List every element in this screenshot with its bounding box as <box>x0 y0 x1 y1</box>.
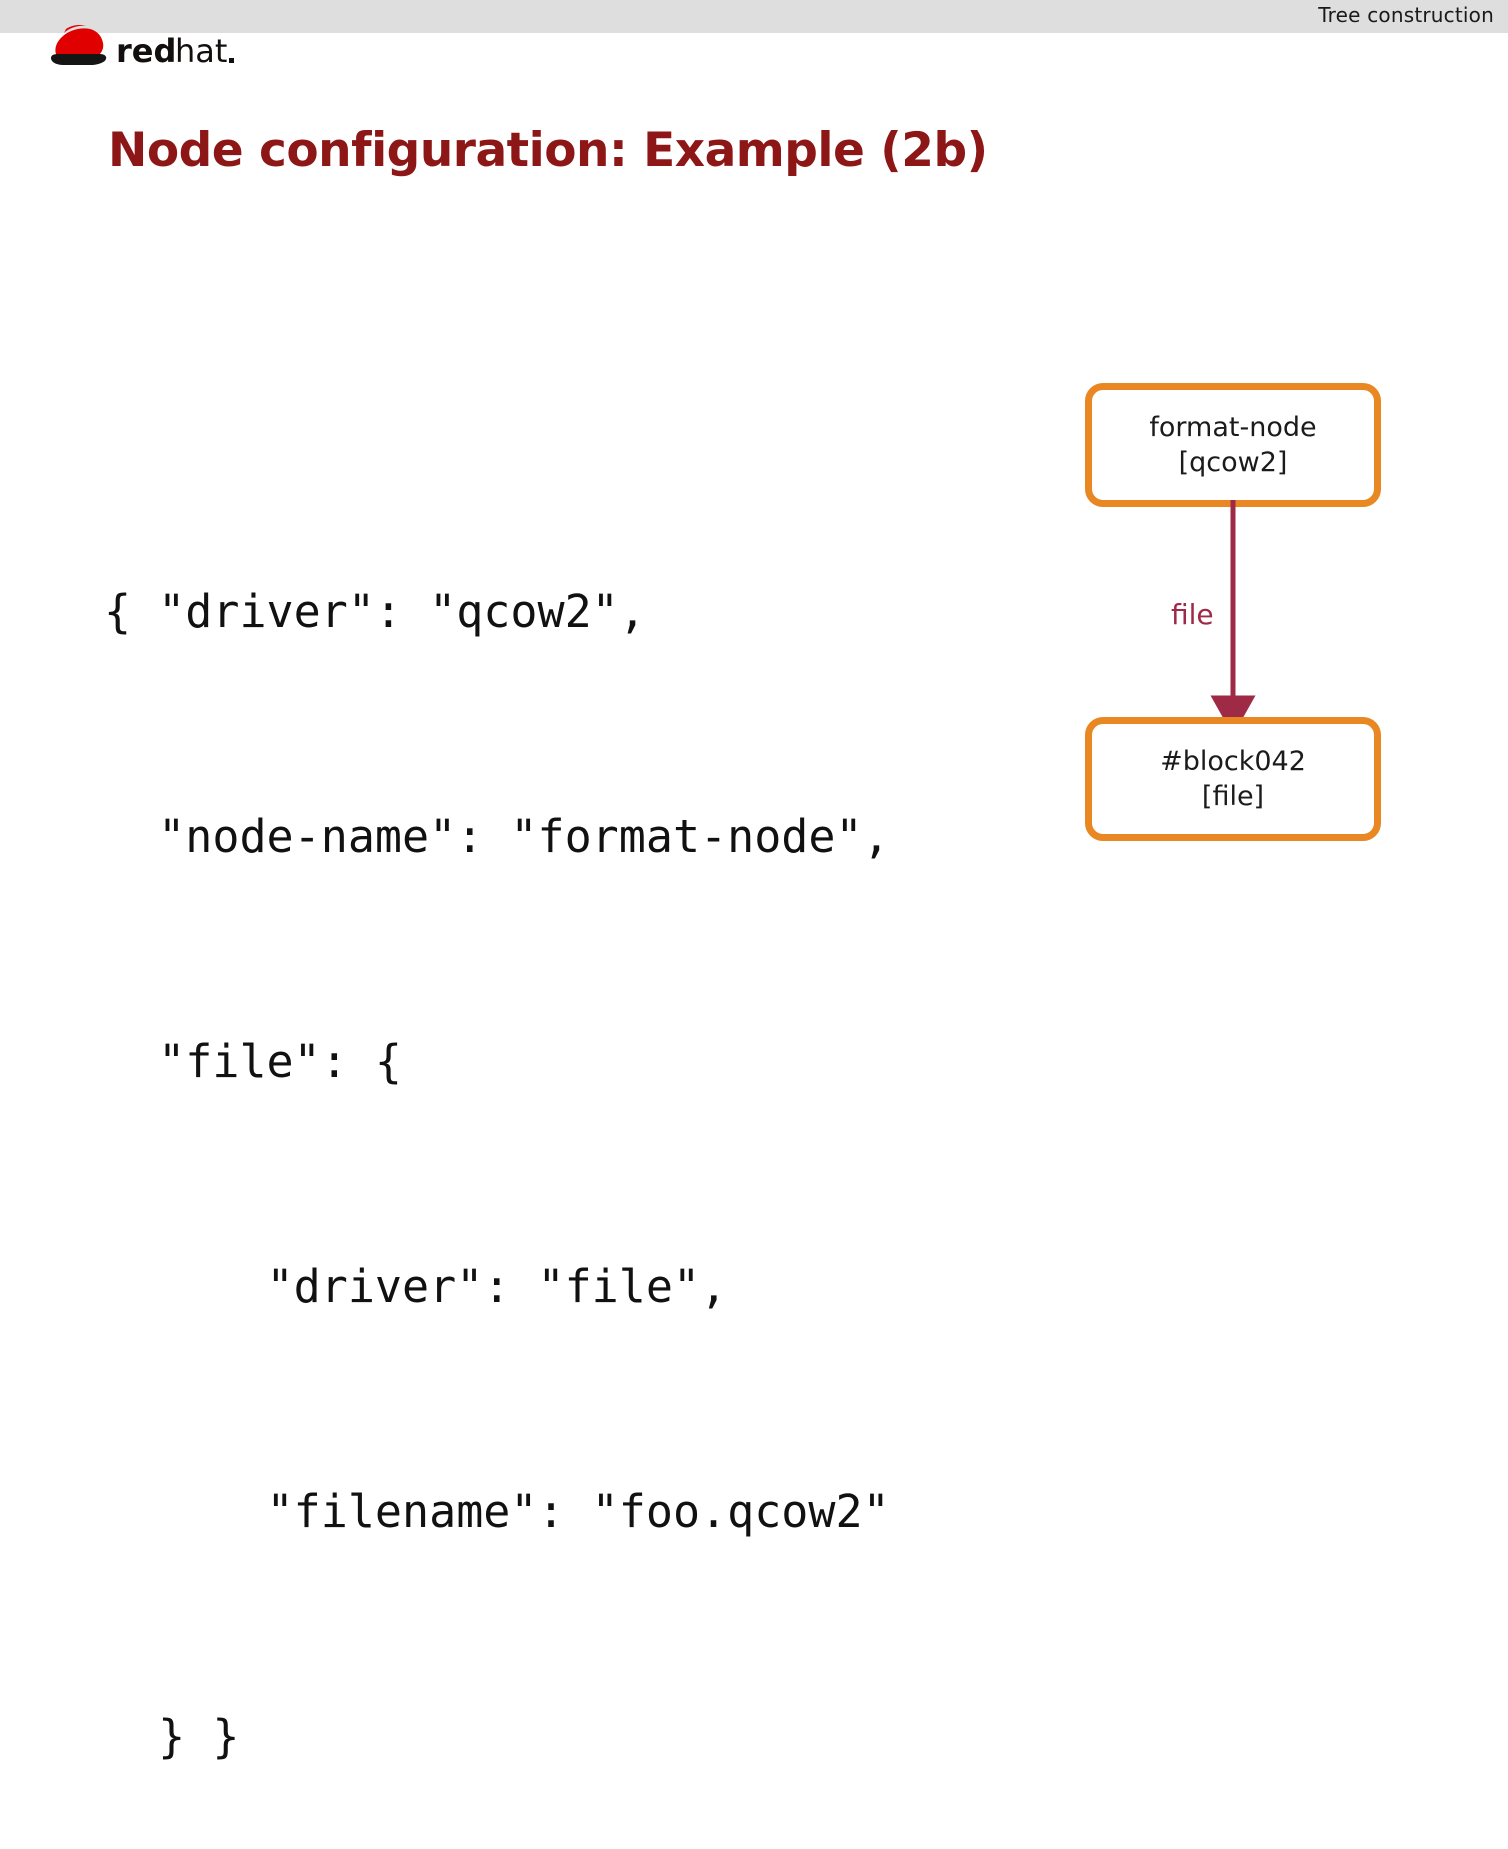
code-line: "file": { <box>104 1024 890 1099</box>
code-line: "filename": "foo.qcow2" <box>104 1474 890 1549</box>
code-line: "driver": "file", <box>104 1249 890 1324</box>
node-subtitle: [file] <box>1202 779 1264 814</box>
node-subtitle: [qcow2] <box>1179 445 1288 480</box>
node-title: #block042 <box>1160 744 1306 779</box>
redhat-wordmark-dot <box>229 58 234 63</box>
page-title: Node configuration: Example (2b) <box>108 123 988 178</box>
block-graph-diagram: format-node [qcow2] file #block042 [file… <box>1085 380 1395 855</box>
edge-label-file: file <box>1171 598 1214 631</box>
section-title: Tree construction <box>1318 3 1494 27</box>
code-line: } } <box>104 1699 890 1774</box>
node-title: format-node <box>1149 410 1316 445</box>
code-line: "node-name": "format-node", <box>104 799 890 874</box>
redhat-shadowman-icon <box>51 25 106 65</box>
redhat-wordmark-hat: hat <box>175 32 227 70</box>
graph-node-format-node: format-node [qcow2] <box>1085 383 1381 507</box>
graph-edge-file <box>1085 500 1395 725</box>
json-code-block: { "driver": "qcow2", "node-name": "forma… <box>104 424 890 1849</box>
redhat-logo: red hat <box>44 20 264 72</box>
graph-node-block042: #block042 [file] <box>1085 717 1381 841</box>
redhat-wordmark-red: red <box>116 32 176 70</box>
code-line: { "driver": "qcow2", <box>104 574 890 649</box>
